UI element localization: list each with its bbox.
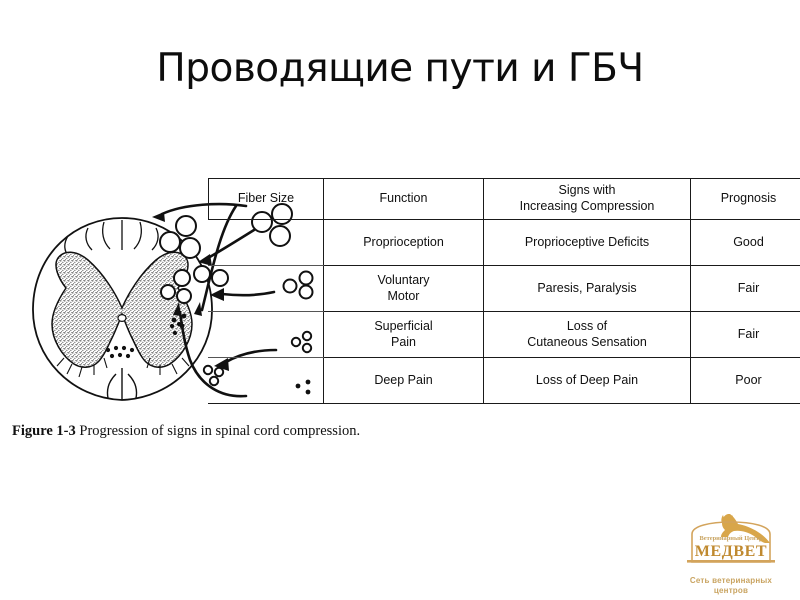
cell-signs: Loss of Cutaneous Sensation (484, 312, 691, 358)
logo-tagline-line1: Сеть ветеринарных (690, 576, 772, 585)
cell-prognosis: Fair (691, 266, 800, 312)
table-row: Deep Pain Loss of Deep Pain Poor (209, 358, 800, 404)
cell-function-line1: Superficial (374, 319, 432, 333)
cell-fiber-size (209, 312, 324, 358)
figure-caption-label: Figure 1-3 (12, 423, 76, 439)
table-row: Voluntary Motor Paresis, Paralysis Fair (209, 266, 800, 312)
column-header-fiber-size: Fiber Size (209, 179, 324, 220)
column-header-function: Function (324, 179, 484, 220)
column-header-prognosis: Prognosis (691, 179, 800, 220)
cell-prognosis: Poor (691, 358, 800, 404)
medvet-logo-icon: Ветеринарный Центр МЕДВЕТ (666, 512, 796, 570)
medvet-logo: Ветеринарный Центр МЕДВЕТ Сеть ветеринар… (666, 512, 796, 596)
cell-signs-line1: Loss of (567, 319, 607, 333)
cell-function-line1: Voluntary (377, 273, 429, 287)
cell-function-line2: Pain (391, 335, 416, 349)
cell-signs-line2: Cutaneous Sensation (527, 335, 647, 349)
cell-function: Deep Pain (324, 358, 484, 404)
column-header-signs: Signs with Increasing Compression (484, 179, 691, 220)
logo-brand-main: МЕДВЕТ (695, 543, 767, 560)
figure-caption-text: Progression of signs in spinal cord comp… (79, 423, 360, 439)
table-header-row: Fiber Size Function Signs with Increasin… (209, 179, 800, 220)
cell-prognosis: Fair (691, 312, 800, 358)
table-row: Superficial Pain Loss of Cutaneous Sensa… (209, 312, 800, 358)
signs-table: Fiber Size Function Signs with Increasin… (208, 178, 800, 404)
figure-caption: Figure 1-3 Progression of signs in spina… (12, 423, 360, 440)
cell-function: Superficial Pain (324, 312, 484, 358)
cell-fiber-size (209, 358, 324, 404)
column-header-signs-line2: Increasing Compression (520, 199, 655, 213)
column-header-signs-line1: Signs with (559, 183, 616, 197)
spinal-cord-cross-section-icon (8, 208, 238, 413)
cell-signs: Proprioceptive Deficits (484, 220, 691, 266)
figure-container: Fiber Size Function Signs with Increasin… (0, 160, 800, 460)
cell-function: Voluntary Motor (324, 266, 484, 312)
cell-prognosis: Good (691, 220, 800, 266)
logo-brand-small: Ветеринарный Центр (700, 535, 763, 542)
cell-function: Proprioception (324, 220, 484, 266)
cell-function-line2: Motor (388, 289, 420, 303)
table-row: Proprioception Proprioceptive Deficits G… (209, 220, 800, 266)
page-title: Проводящие пути и ГБЧ (0, 47, 800, 92)
cell-fiber-size (209, 266, 324, 312)
cell-signs: Loss of Deep Pain (484, 358, 691, 404)
cell-fiber-size (209, 220, 324, 266)
cell-signs: Paresis, Paralysis (484, 266, 691, 312)
logo-tagline-line2: центров (714, 586, 748, 595)
logo-tagline: Сеть ветеринарных центров (666, 576, 796, 596)
